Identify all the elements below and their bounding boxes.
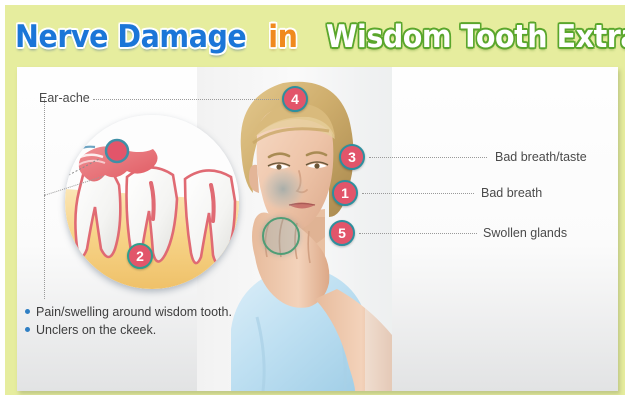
page-title: Nerve Damage in Wisdom Tooth Extraction: [5, 19, 630, 63]
badge-1[interactable]: 1: [332, 180, 358, 206]
leader-bad-breath-taste: [369, 157, 487, 158]
bullet-dot-icon: [25, 309, 30, 314]
title-segment-nerve-damage: Nerve Damage: [15, 19, 246, 55]
leader-bad-breath: [362, 193, 474, 194]
bullet-dot-icon: [25, 327, 30, 332]
bullet-text-2: Unclers on the ckeek.: [36, 323, 156, 337]
leader-vertical-left: [44, 99, 45, 299]
label-bad-breath-taste: Bad breath/taste: [495, 150, 587, 164]
bullet-text-1: Pain/swelling around wisdom tooth.: [36, 305, 232, 319]
badge-3[interactable]: 3: [339, 144, 365, 170]
title-space-1: [257, 19, 266, 55]
title-segment-in: in: [268, 19, 297, 55]
infographic-root: Nerve Damage in Wisdom Tooth Extraction: [0, 0, 630, 400]
badge-4[interactable]: 4: [282, 86, 308, 112]
magnified-tooth-diagram: [65, 115, 239, 289]
list-item: Unclers on the ckeek.: [25, 323, 285, 337]
badge-5[interactable]: 5: [329, 220, 355, 246]
title-segment-wisdom-tooth-extraction: Wisdom Tooth Extraction: [326, 19, 630, 55]
title-space-2: [299, 19, 308, 55]
label-ear-ache: Ear-ache: [39, 91, 90, 105]
content-panel: 2 Ear-ache Bad breath/taste Bad breath S…: [17, 67, 618, 391]
bullet-list: Pain/swelling around wisdom tooth. Uncle…: [25, 305, 285, 341]
leader-ear-ache: [93, 99, 279, 100]
cheek-pain-highlight-ring: [262, 217, 300, 255]
badge-2[interactable]: 2: [127, 243, 153, 269]
leader-swollen-glands: [359, 233, 477, 234]
label-swollen-glands: Swollen glands: [483, 226, 567, 240]
label-bad-breath: Bad breath: [481, 186, 542, 200]
list-item: Pain/swelling around wisdom tooth.: [25, 305, 285, 319]
